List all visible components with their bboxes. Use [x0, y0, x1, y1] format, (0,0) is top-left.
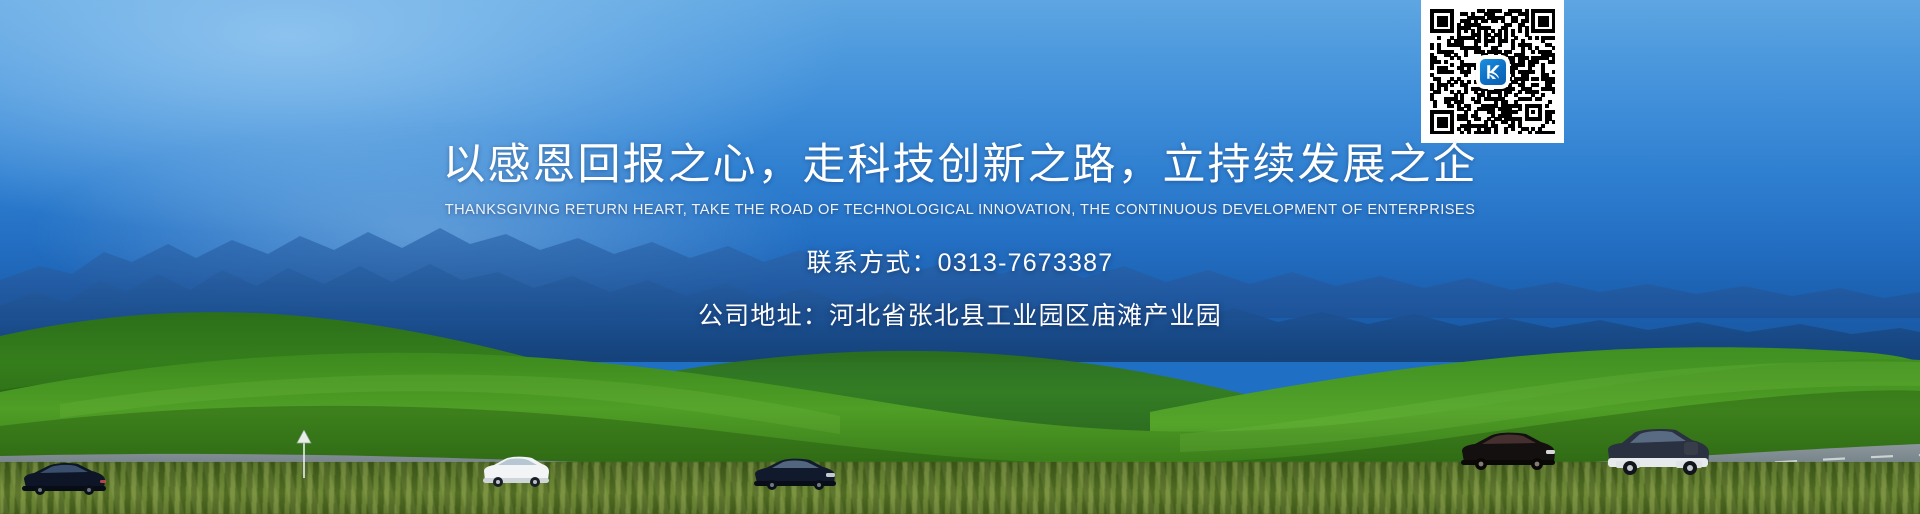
- road-sign-icon: [296, 430, 312, 483]
- company-logo-icon: [1478, 57, 1508, 87]
- qr-code[interactable]: [1430, 9, 1555, 134]
- car-dark-center: [750, 458, 840, 492]
- car-white-small: [480, 456, 552, 490]
- car-dark-left: [18, 462, 110, 496]
- car-dark-right: [1456, 432, 1560, 472]
- qr-code-frame[interactable]: [1421, 0, 1564, 143]
- suv-silver-right: [1600, 428, 1716, 478]
- promo-banner: 以感恩回报之心，走科技创新之路，立持续发展之企 THANKSGIVING RET…: [0, 0, 1920, 514]
